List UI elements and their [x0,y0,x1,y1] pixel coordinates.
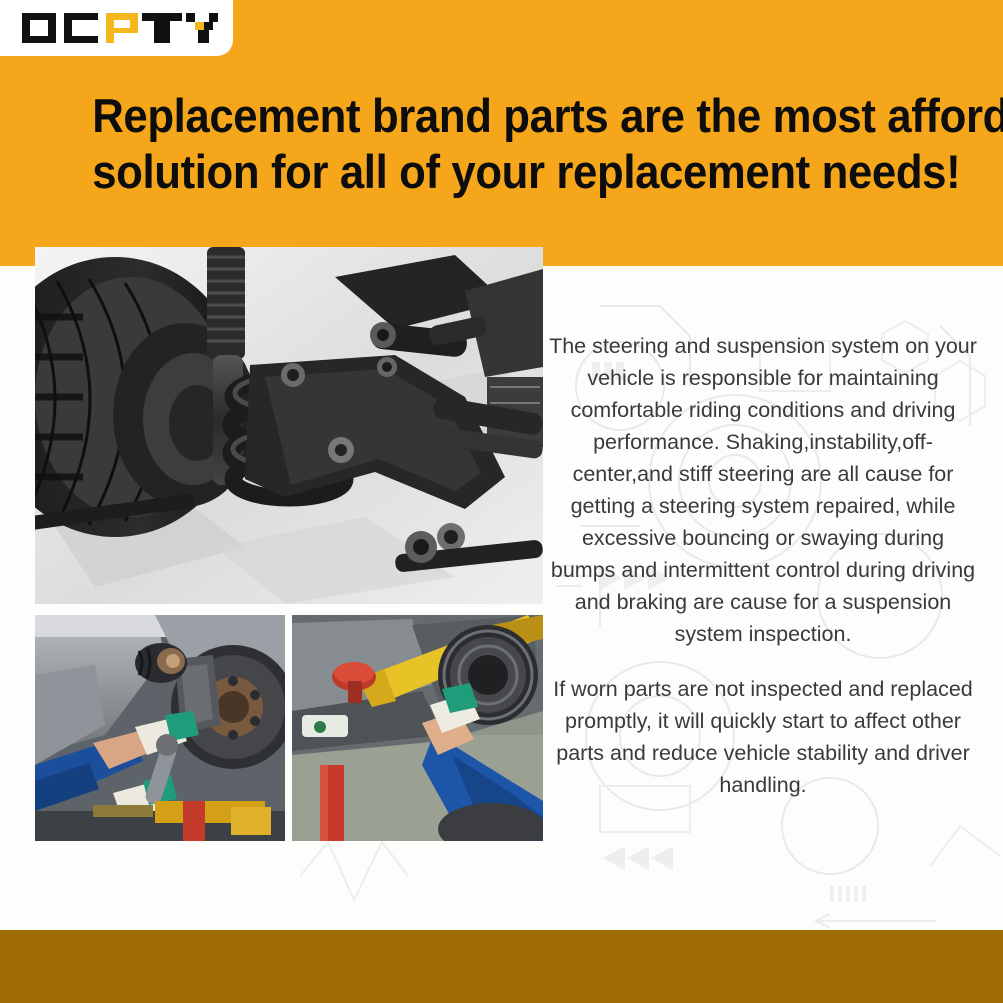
ocpty-logo-icon [22,11,218,45]
under-lift-photo-art [292,615,543,841]
suspension-photo-art [35,247,543,604]
brake-service-photo-art [35,615,285,841]
header-banner: Replacement brand parts are the most aff… [0,0,1003,266]
footer-bar [0,930,1003,1003]
mechanic-brake-service-photo [35,615,285,841]
headline: Replacement brand parts are the most aff… [92,88,948,200]
headline-line-1: Replacement brand parts are the most aff… [92,88,948,144]
infographic-page: Replacement brand parts are the most aff… [0,0,1003,1003]
ocpty-logo [22,11,218,45]
paragraph-1: The steering and suspension system on yo… [548,330,978,650]
car-suspension-assembly-photo [35,247,543,604]
body-copy: The steering and suspension system on yo… [548,330,978,801]
paragraph-2: If worn parts are not inspected and repl… [548,673,978,801]
headline-line-2: solution for all of your replacement nee… [92,144,948,200]
brand-logo-plate [0,0,233,56]
mechanic-under-lift-photo [292,615,543,841]
